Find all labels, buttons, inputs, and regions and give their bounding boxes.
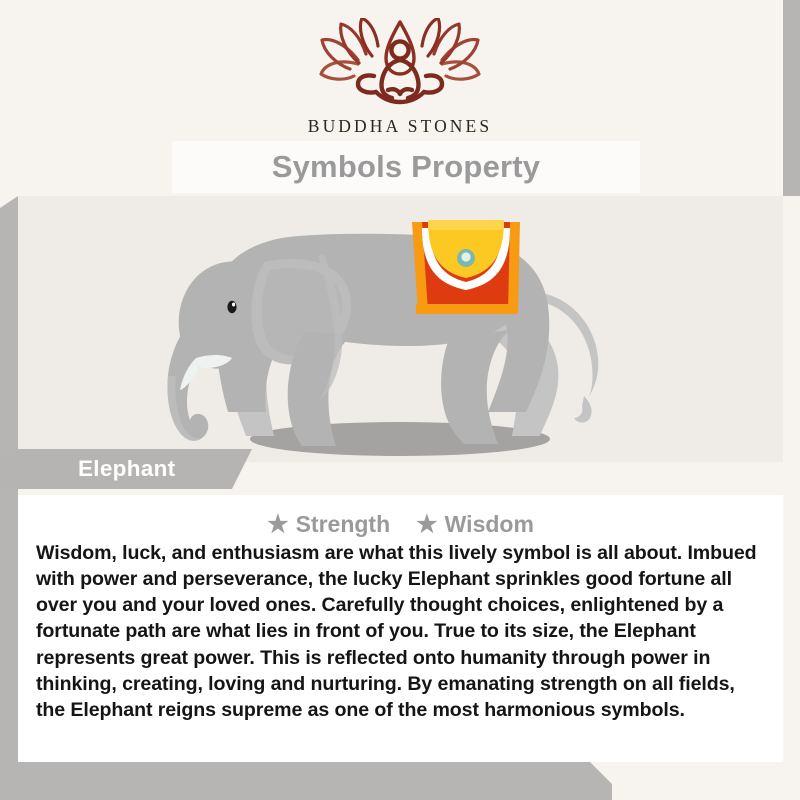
symbol-description: Wisdom, luck, and enthusiasm are what th… xyxy=(36,540,768,723)
star-icon: ★ xyxy=(267,513,289,537)
symbol-name-tab: Elephant xyxy=(0,449,252,489)
description-panel: ★ Strength ★ Wisdom Wisdom, luck, and en… xyxy=(18,495,783,762)
property-item-wisdom: ★ Wisdom xyxy=(416,511,534,538)
elephant-eye xyxy=(227,301,236,313)
brand-wordmark: BUDDHA STONES xyxy=(0,116,800,137)
symbol-name-label: Elephant xyxy=(78,456,175,482)
elephant-illustration xyxy=(18,196,783,462)
property-list: ★ Strength ★ Wisdom xyxy=(18,495,783,538)
page-title: Symbols Property xyxy=(272,149,541,185)
illustration-stage xyxy=(18,196,783,462)
property-item-strength: ★ Strength xyxy=(267,511,390,538)
property-label-strength: Strength xyxy=(296,511,391,538)
frame-accent-bottom xyxy=(0,762,612,800)
symbol-info-card: BUDDHA STONES Symbols Property xyxy=(0,0,800,800)
lotus-meditation-icon xyxy=(314,18,486,112)
title-banner: Symbols Property xyxy=(172,141,640,193)
property-label-wisdom: Wisdom xyxy=(445,511,534,538)
brand-logo: BUDDHA STONES xyxy=(0,18,800,137)
star-icon: ★ xyxy=(416,513,438,537)
